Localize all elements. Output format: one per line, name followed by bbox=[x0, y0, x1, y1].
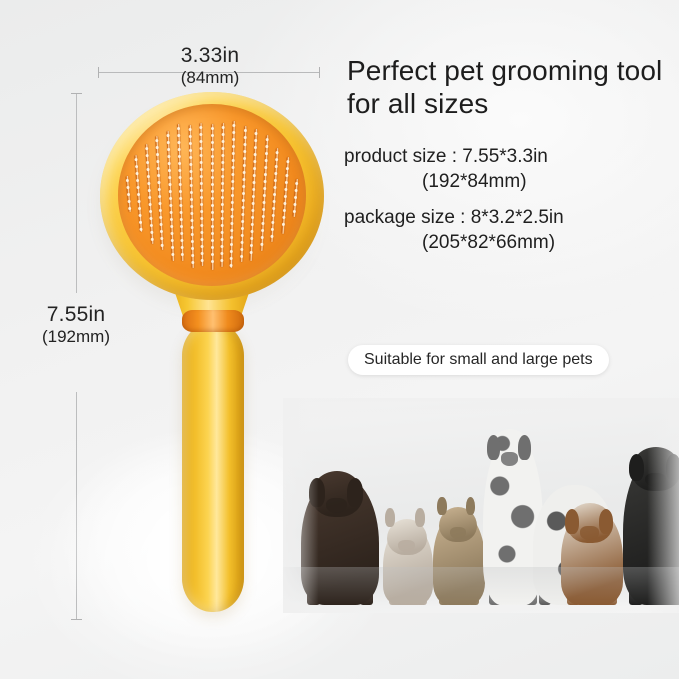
spec-item-product: product size : 7.55*3.3in (192*84mm) bbox=[344, 145, 664, 194]
floor-reflection bbox=[283, 567, 679, 613]
package-size-label: package size : 8*3.2*2.5in bbox=[344, 206, 664, 231]
product-infographic: 3.33in (84mm) 7.55in (192mm) Perfect pet… bbox=[0, 0, 679, 679]
pin-bristles bbox=[118, 104, 306, 286]
product-size-mm: (192*84mm) bbox=[344, 170, 664, 195]
collar-ring bbox=[182, 310, 244, 332]
group-of-dogs-photo bbox=[283, 398, 679, 613]
product-size-label: product size : 7.55*3.3in bbox=[344, 145, 664, 170]
package-size-mm: (205*82*66mm) bbox=[344, 231, 664, 256]
spec-list: product size : 7.55*3.3in (192*84mm) pac… bbox=[344, 145, 664, 268]
page-title: Perfect pet grooming tool for all sizes bbox=[347, 54, 667, 120]
spec-item-package: package size : 8*3.2*2.5in (205*82*66mm) bbox=[344, 206, 664, 255]
brush-head-pad bbox=[118, 104, 306, 286]
status-badge: Suitable for small and large pets bbox=[348, 345, 609, 375]
brush-handle bbox=[182, 322, 244, 612]
